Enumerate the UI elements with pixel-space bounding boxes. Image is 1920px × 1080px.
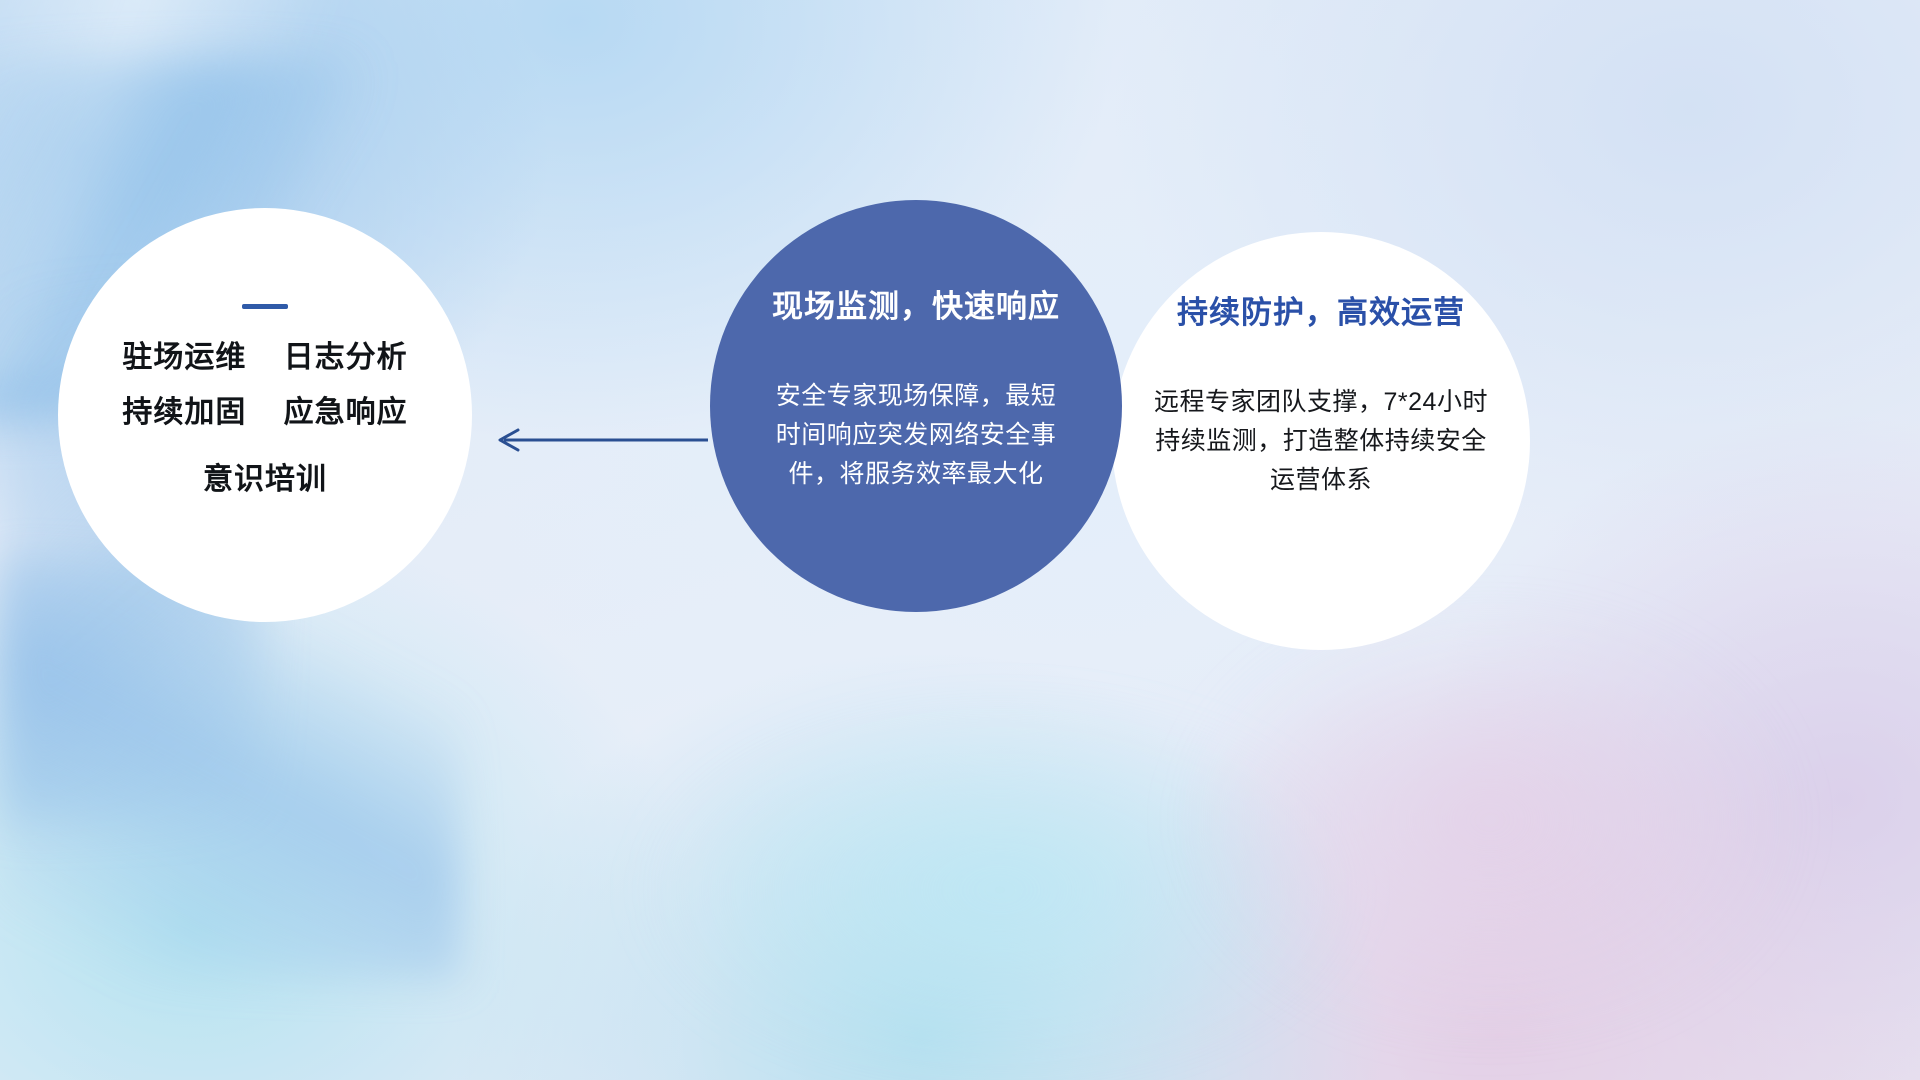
background-bottom-cyan-glow (640, 700, 1360, 1080)
divider-dash-icon (242, 304, 288, 309)
slide-canvas: 驻场运维 日志分析 持续加固 应急响应 意识培训 现场监测，快速响应 安全专家现… (0, 0, 1920, 1080)
onsite-monitoring-title: 现场监测，快速响应 (772, 288, 1060, 325)
service-line-1: 驻场运维 日志分析 (122, 341, 407, 374)
onsite-monitoring-body: 安全专家现场保障，最短时间响应突发网络安全事件，将服务效率最大化 (766, 377, 1066, 493)
background-bottom-left-streak (0, 560, 460, 980)
continuous-protection-body: 远程专家团队支撑，7*24小时持续监测，打造整体持续安全运营体系 (1146, 383, 1496, 499)
continuous-protection-title: 持续防护，高效运营 (1177, 294, 1465, 331)
services-circle-left[interactable]: 驻场运维 日志分析 持续加固 应急响应 意识培训 (58, 208, 472, 622)
onsite-monitoring-circle[interactable]: 现场监测，快速响应 安全专家现场保障，最短时间响应突发网络安全事件，将服务效率最… (710, 200, 1122, 612)
service-line-3: 意识培训 (203, 463, 327, 496)
continuous-protection-circle[interactable]: 持续防护，高效运营 远程专家团队支撑，7*24小时持续监测，打造整体持续安全运营… (1112, 232, 1530, 650)
background-bottom-lavender-glow (1180, 600, 1800, 1040)
arrow-left-icon (490, 418, 710, 462)
service-line-2: 持续加固 应急响应 (122, 396, 407, 429)
